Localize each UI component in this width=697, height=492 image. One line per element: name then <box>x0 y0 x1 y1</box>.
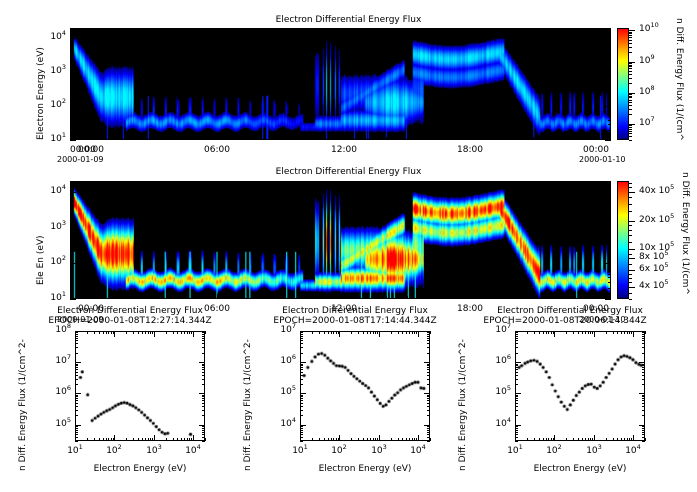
y-tick-right <box>608 46 611 47</box>
x-tick <box>367 438 368 441</box>
colorbar-tick-label: 8x 105 <box>639 253 669 262</box>
x-tick-top <box>398 331 399 334</box>
y-tick <box>515 375 518 376</box>
x-tick <box>491 137 492 140</box>
y-tick-right <box>202 347 205 348</box>
colorbar-tick <box>629 65 632 66</box>
x-tick <box>406 438 407 441</box>
y-tick <box>300 343 303 344</box>
y-tick <box>515 426 518 427</box>
y-tick <box>515 332 518 333</box>
y-tick <box>300 379 303 380</box>
colorbar-tick <box>629 66 632 67</box>
x-tick <box>106 438 107 441</box>
y-tick-right <box>608 124 611 125</box>
x-tick-top <box>138 331 139 334</box>
y-tick <box>75 426 78 427</box>
x-tick-top <box>302 28 303 31</box>
y-tick <box>300 415 303 416</box>
y-tick-right <box>424 393 430 394</box>
x-tick-label: 102 <box>102 447 126 456</box>
x-tick-top <box>133 181 134 184</box>
y-tick <box>515 441 518 442</box>
x-tick <box>181 438 182 441</box>
x-tick <box>554 296 555 299</box>
x-tick-top <box>331 331 332 334</box>
y-tick-right <box>202 398 205 399</box>
y-tick <box>300 384 303 385</box>
panel1-colorbar-label: n Diff. Energy Flux (1/(cm^ <box>674 18 683 141</box>
colorbar-tick <box>629 187 632 188</box>
x-tick-top <box>196 28 197 31</box>
x-tick-label: 104 <box>406 447 430 456</box>
colorbar-tick <box>629 136 632 137</box>
x-tick <box>323 137 324 140</box>
y-tick-right <box>427 332 430 333</box>
x-tick <box>566 438 567 441</box>
y-tick-right <box>642 375 645 376</box>
x-tick-top <box>391 331 392 334</box>
y-tick-right <box>642 379 645 380</box>
x-tick <box>554 435 555 441</box>
y-tick-label: 107 <box>483 326 511 335</box>
x-tick <box>430 438 431 441</box>
y-tick <box>70 106 76 107</box>
x-tick-top <box>111 331 112 334</box>
colorbar-tick <box>629 114 632 115</box>
y-tick-right <box>427 372 430 373</box>
x-tick-top <box>606 331 607 334</box>
panel2-colorbar-label: n Diff. Energy Flux (1/(cm^ <box>680 172 689 295</box>
y-tick-label: 104 <box>483 420 511 429</box>
y-tick-right <box>605 72 611 73</box>
x-tick <box>627 438 628 441</box>
y-tick <box>515 336 518 337</box>
y-tick-right <box>608 229 611 230</box>
y-tick <box>70 140 76 141</box>
y-tick-right <box>199 425 205 426</box>
x-tick-top <box>191 331 192 334</box>
colorbar-tick <box>629 254 632 255</box>
colorbar-tick <box>629 127 632 128</box>
y-tick-right <box>202 428 205 429</box>
x-tick-top <box>302 181 303 184</box>
y-tick-right <box>202 437 205 438</box>
y-tick-right <box>608 233 611 234</box>
y-tick <box>75 334 78 335</box>
x-tick <box>259 296 260 299</box>
colorbar-tick <box>629 35 632 36</box>
y-tick-label: 102 <box>40 101 66 110</box>
x-tick <box>534 438 535 441</box>
y-tick-right <box>202 375 205 376</box>
y-tick <box>70 42 73 43</box>
y-tick <box>515 395 518 396</box>
x-tick <box>312 438 313 441</box>
x-tick-top <box>412 331 413 334</box>
y-tick-right <box>608 130 611 131</box>
x-tick-top <box>108 331 109 334</box>
x-tick-top <box>193 331 194 337</box>
x-tick <box>205 438 206 441</box>
y-tick <box>515 396 518 397</box>
x-tick-top <box>406 331 407 334</box>
y-tick-right <box>427 364 430 365</box>
x-tick <box>133 438 134 441</box>
colorbar-tick <box>629 242 632 243</box>
y-tick <box>300 332 303 333</box>
y-tick <box>70 252 73 253</box>
panel1-start-date: 2000-01-09 <box>57 156 104 164</box>
colorbar-tick-label: 10x 105 <box>639 244 674 253</box>
y-tick <box>515 331 521 332</box>
x-tick-top <box>533 28 534 31</box>
x-tick-top <box>177 331 178 334</box>
x-tick-top <box>527 331 528 334</box>
y-tick-right <box>427 426 430 427</box>
colorbar-tick <box>629 100 632 101</box>
y-tick-right <box>608 80 611 81</box>
y-tick-right <box>608 288 611 289</box>
y-tick <box>70 90 73 91</box>
y-tick-right <box>642 334 645 335</box>
x-tick-top <box>407 28 408 31</box>
x-tick-top <box>631 331 632 334</box>
y-tick <box>515 393 521 394</box>
x-tick-top <box>333 331 334 334</box>
x-tick <box>533 296 534 299</box>
y-tick-right <box>202 410 205 411</box>
y-tick <box>70 195 73 196</box>
y-tick <box>300 365 303 366</box>
panel5-ylabel-wrap: n Diff. Energy Flux (1/(cm^2- <box>448 331 462 441</box>
x-tick-label: 18:00 <box>453 146 487 155</box>
x-tick <box>138 438 139 441</box>
x-tick-top <box>365 28 366 31</box>
y-tick-right <box>202 367 205 368</box>
y-tick-right <box>427 434 430 435</box>
x-tick <box>331 438 332 441</box>
y-tick-right <box>642 372 645 373</box>
panel5-title: Electron Differential Energy Flux <box>460 307 680 316</box>
x-tick-label: 101 <box>63 447 87 456</box>
y-tick <box>515 340 518 341</box>
x-tick-top <box>402 331 403 334</box>
y-tick-right <box>427 406 430 407</box>
x-tick-top <box>189 331 190 334</box>
x-tick <box>554 137 555 140</box>
x-tick <box>613 438 614 441</box>
y-tick-right <box>202 403 205 404</box>
x-tick-top <box>238 28 239 31</box>
colorbar-tick <box>629 125 632 126</box>
x-tick-top <box>613 331 614 334</box>
x-tick-top <box>106 331 107 334</box>
x-tick-top <box>624 331 625 334</box>
colorbar-tick <box>629 102 632 103</box>
y-tick-label: 102 <box>40 258 66 267</box>
y-tick-right <box>642 395 645 396</box>
y-tick-right <box>199 393 205 394</box>
y-tick-right <box>427 410 430 411</box>
y-tick-right <box>427 334 430 335</box>
y-tick-right <box>427 375 430 376</box>
x-tick <box>87 438 88 441</box>
colorbar-tick <box>629 211 632 212</box>
y-tick-right <box>202 336 205 337</box>
y-tick <box>515 425 521 426</box>
colorbar-tick <box>629 105 632 106</box>
y-tick <box>515 353 518 354</box>
x-tick <box>70 137 71 140</box>
x-tick <box>418 435 419 441</box>
y-tick <box>300 432 303 433</box>
y-tick <box>70 242 73 243</box>
x-tick <box>302 296 303 299</box>
x-tick <box>386 296 387 299</box>
x-tick <box>386 137 387 140</box>
panel3-subtitle: EPOCH=2000-01-08T12:27:14.344Z <box>20 317 240 326</box>
x-tick-top <box>70 181 71 184</box>
colorbar-tick-label: 107 <box>639 119 655 128</box>
panel1-colorbar-label-wrap: n Diff. Energy Flux (1/(cm^ <box>672 18 686 158</box>
x-tick-top <box>449 181 450 184</box>
y-tick <box>70 109 73 110</box>
x-tick-top <box>181 331 182 334</box>
x-tick-top <box>629 331 630 334</box>
colorbar-tick <box>629 183 632 184</box>
y-tick <box>70 235 73 236</box>
y-tick-right <box>427 396 430 397</box>
y-tick <box>300 400 303 401</box>
panel3-ylabel: n Diff. Energy Flux (1/(cm^2- <box>19 339 28 471</box>
y-tick-right <box>608 43 611 44</box>
y-tick-label: 104 <box>40 187 66 196</box>
y-tick <box>70 40 73 41</box>
x-tick <box>152 438 153 441</box>
y-tick <box>70 229 73 230</box>
y-tick-right <box>608 203 611 204</box>
x-tick-top <box>281 181 282 184</box>
y-tick-right <box>608 252 611 253</box>
y-tick <box>300 369 303 370</box>
x-tick-top <box>592 331 593 334</box>
y-tick-right <box>605 263 611 264</box>
x-tick <box>527 438 528 441</box>
y-tick <box>70 193 73 194</box>
y-tick-label: 105 <box>268 388 296 397</box>
colorbar-tick <box>629 140 632 141</box>
y-tick-right <box>639 393 645 394</box>
y-tick <box>75 396 78 397</box>
colorbar-tick-label: 1010 <box>639 25 659 34</box>
panel5-subtitle: EPOCH=2000-01-08T20:06:14.344Z <box>455 317 675 326</box>
colorbar-tick <box>629 225 632 226</box>
y-tick-right <box>605 192 611 193</box>
y-tick <box>75 434 78 435</box>
x-tick <box>173 438 174 441</box>
y-tick-right <box>202 434 205 435</box>
y-tick-right <box>608 282 611 283</box>
y-tick-label: 107 <box>268 326 296 335</box>
y-tick-right <box>202 432 205 433</box>
x-tick-label: 06:00 <box>200 146 234 155</box>
x-tick <box>470 294 471 299</box>
y-tick <box>70 299 76 300</box>
y-tick <box>300 434 303 435</box>
y-tick <box>515 343 518 344</box>
y-tick-right <box>608 82 611 83</box>
y-tick <box>300 347 303 348</box>
x-tick-top <box>512 181 513 184</box>
y-tick-right <box>608 197 611 198</box>
x-tick <box>543 438 544 441</box>
x-tick-top <box>491 28 492 31</box>
y-tick <box>515 338 518 339</box>
colorbar-tick <box>629 96 632 97</box>
x-tick <box>629 438 630 441</box>
x-tick <box>365 137 366 140</box>
y-tick <box>515 398 518 399</box>
x-tick-top <box>418 331 419 337</box>
panel2-colorbar <box>617 181 629 299</box>
y-tick-right <box>608 90 611 91</box>
x-tick-top <box>551 331 552 334</box>
x-tick-top <box>363 331 364 334</box>
y-tick-right <box>427 432 430 433</box>
x-tick <box>344 294 345 299</box>
y-tick <box>75 415 78 416</box>
y-tick-right <box>608 77 611 78</box>
x-tick-top <box>70 28 71 31</box>
y-tick-right <box>605 106 611 107</box>
colorbar-tick <box>629 278 632 279</box>
x-tick-top <box>645 331 646 334</box>
x-tick-top <box>470 28 471 33</box>
x-tick-top <box>152 331 153 334</box>
x-tick <box>112 137 113 140</box>
x-tick <box>578 438 579 441</box>
colorbar-tick <box>629 37 632 38</box>
y-tick <box>75 372 78 373</box>
y-tick-right <box>642 364 645 365</box>
panel1-xtick-0: 00:00 <box>70 146 96 155</box>
colorbar-tick <box>629 68 632 69</box>
x-tick-top <box>375 331 376 334</box>
y-tick <box>75 395 78 396</box>
y-tick-right <box>427 403 430 404</box>
y-tick <box>70 274 73 275</box>
x-tick <box>391 438 392 441</box>
panel5-plot-area <box>515 331 645 441</box>
x-tick-top <box>449 28 450 31</box>
y-tick <box>515 367 518 368</box>
y-tick <box>70 282 73 283</box>
y-tick-right <box>202 369 205 370</box>
x-tick-top <box>588 331 589 334</box>
y-tick <box>515 410 518 411</box>
y-tick <box>300 406 303 407</box>
x-tick-top <box>594 331 595 337</box>
colorbar-tick <box>629 78 632 79</box>
panel1-ylabel-wrap: Electron Energy (eV) <box>26 28 40 140</box>
x-tick-top <box>99 331 100 334</box>
x-tick <box>126 438 127 441</box>
x-tick-top <box>133 331 134 334</box>
x-tick <box>358 438 359 441</box>
x-tick-top <box>324 331 325 334</box>
y-tick-right <box>608 56 611 57</box>
x-tick-top <box>416 331 417 334</box>
y-tick <box>70 38 76 39</box>
y-tick-right <box>202 406 205 407</box>
y-tick-right <box>642 384 645 385</box>
y-tick <box>70 120 73 121</box>
panel1-colorbar <box>617 28 629 140</box>
x-tick-top <box>633 331 634 337</box>
colorbar-tick <box>629 74 632 75</box>
x-tick <box>154 435 155 441</box>
colorbar-tick <box>629 270 635 271</box>
y-tick <box>515 403 518 404</box>
y-tick <box>70 116 73 117</box>
colorbar-tick <box>629 133 632 134</box>
y-tick <box>75 430 78 431</box>
panel3-xlabel: Electron Energy (eV) <box>75 465 205 474</box>
colorbar-tick <box>629 230 632 231</box>
x-tick-top <box>196 181 197 184</box>
x-tick-top <box>344 28 345 33</box>
y-tick <box>70 52 73 53</box>
y-tick-label: 106 <box>483 357 511 366</box>
x-tick <box>375 438 376 441</box>
y-tick <box>300 441 303 442</box>
panel4-subtitle: EPOCH=2000-01-08T17:14:44.344Z <box>245 317 465 326</box>
x-tick <box>142 438 143 441</box>
panel5-ylabel: n Diff. Energy Flux (1/(cm^2- <box>459 339 468 471</box>
colorbar-tick <box>629 83 632 84</box>
y-tick <box>515 406 518 407</box>
x-tick-label: 103 <box>582 447 606 456</box>
y-tick-right <box>427 437 430 438</box>
x-tick <box>133 137 134 140</box>
y-tick <box>70 80 73 81</box>
y-tick-right <box>642 437 645 438</box>
y-tick-label: 104 <box>40 33 66 42</box>
y-tick <box>70 217 73 218</box>
x-tick-top <box>575 28 576 31</box>
y-tick-right <box>642 428 645 429</box>
x-tick <box>370 438 371 441</box>
colorbar-tick <box>629 197 632 198</box>
y-tick-right <box>427 336 430 337</box>
x-tick <box>470 135 471 140</box>
x-tick <box>91 135 92 140</box>
y-tick <box>70 48 73 49</box>
x-tick <box>588 438 589 441</box>
y-tick <box>70 62 73 63</box>
y-tick-right <box>608 277 611 278</box>
y-tick-right <box>642 415 645 416</box>
y-tick-right <box>608 217 611 218</box>
y-tick <box>75 384 78 385</box>
x-tick <box>592 438 593 441</box>
y-tick <box>515 362 521 363</box>
x-tick-label: 103 <box>367 447 391 456</box>
y-tick-label: 106 <box>268 357 296 366</box>
x-tick <box>606 438 607 441</box>
y-tick <box>300 425 306 426</box>
